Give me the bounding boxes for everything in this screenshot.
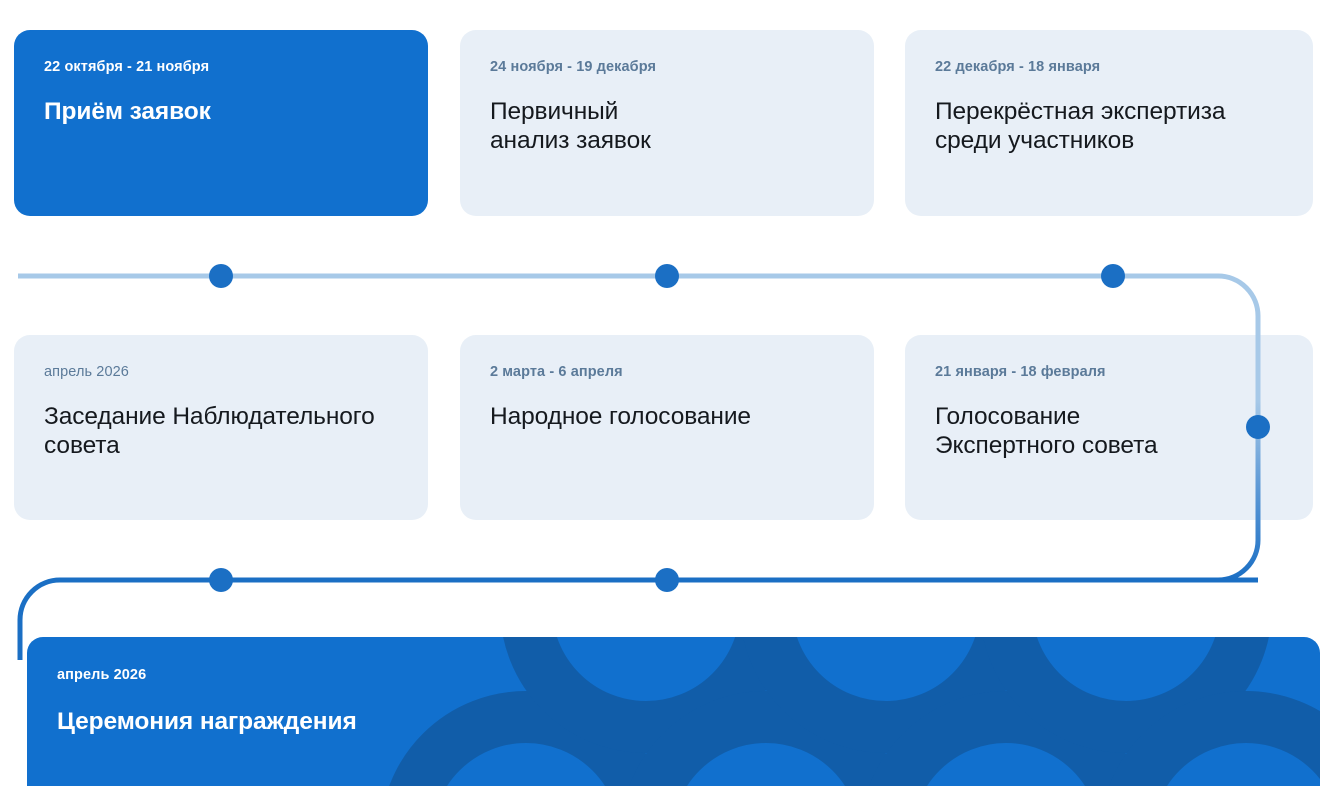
milestone-dot-5[interactable] <box>655 568 679 592</box>
timeline-card-pervichnyi-analiz[interactable]: 24 ноября - 19 декабря Первичный анализ … <box>460 30 874 216</box>
card-date: апрель 2026 <box>44 364 398 381</box>
card-title: Перекрёстная экспертиза среди участников <box>935 98 1283 156</box>
card-title: Приём заявок <box>44 98 398 127</box>
timeline-card-perekrestnaya-ekspertiza[interactable]: 22 декабря - 18 января Перекрёстная эксп… <box>905 30 1313 216</box>
card-date: 2 марта - 6 апреля <box>490 364 844 381</box>
card-date: 22 декабря - 18 января <box>935 59 1283 76</box>
card-title: Церемония награждения <box>57 708 1290 737</box>
milestone-dot-3[interactable] <box>1101 264 1125 288</box>
card-title: Заседание Наблюдательного совета <box>44 403 398 461</box>
card-date: 21 января - 18 февраля <box>935 364 1283 381</box>
timeline-card-priem-zayavok[interactable]: 22 октября - 21 ноября Приём заявок <box>14 30 428 216</box>
milestone-dot-4[interactable] <box>1246 415 1270 439</box>
card-title: Голосование Экспертного совета <box>935 403 1283 461</box>
card-date: 22 октября - 21 ноября <box>44 59 398 76</box>
milestone-dot-1[interactable] <box>209 264 233 288</box>
timeline-card-zasedanie-soveta[interactable]: апрель 2026 Заседание Наблюдательного со… <box>14 335 428 520</box>
card-title: Народное голосование <box>490 403 844 432</box>
milestone-dot-2[interactable] <box>655 264 679 288</box>
timeline-card-narodnoe-golosovanie[interactable]: 2 марта - 6 апреля Народное голосование <box>460 335 874 520</box>
card-title: Первичный анализ заявок <box>490 98 844 156</box>
timeline-card-tseremoniya-nagrazhdeniya[interactable]: апрель 2026 Церемония награждения <box>27 637 1320 786</box>
timeline-infographic: 22 октября - 21 ноября Приём заявок 24 н… <box>0 0 1327 786</box>
milestone-dot-6[interactable] <box>209 568 233 592</box>
card-date: апрель 2026 <box>57 667 1290 684</box>
card-date: 24 ноября - 19 декабря <box>490 59 844 76</box>
